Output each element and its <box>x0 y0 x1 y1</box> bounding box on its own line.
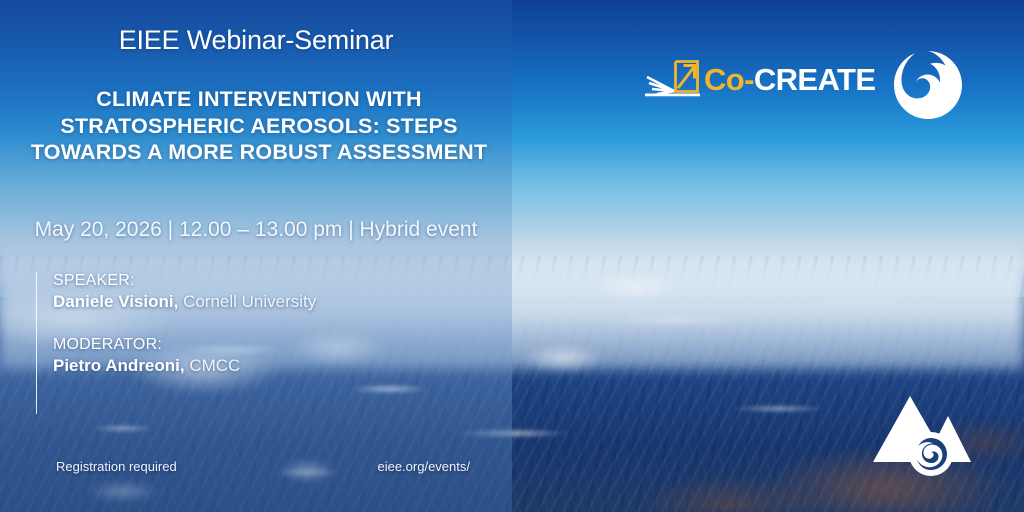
event-datetime: May 20, 2026 | 12.00 – 13.00 pm | Hybrid… <box>0 218 512 242</box>
cocreate-word-co: Co- <box>704 62 754 97</box>
participants-block: SPEAKER: Daniele Visioni, Cornell Univer… <box>36 272 316 414</box>
cocreate-logo: Co-CREATE <box>644 58 875 100</box>
moderator-role-label: MODERATOR: <box>53 336 316 354</box>
sunburst-arrow-icon <box>644 58 700 100</box>
moderator-name: Pietro Andreoni, <box>53 356 185 375</box>
poster-text-content: EIEE Webinar-Seminar Climate interventio… <box>0 0 512 512</box>
moderator-group: MODERATOR: Pietro Andreoni, CMCC <box>53 336 316 376</box>
speaker-name: Daniele Visioni, <box>53 292 178 311</box>
event-series-kicker: EIEE Webinar-Seminar <box>0 25 512 56</box>
webinar-announcement-poster: EIEE Webinar-Seminar Climate interventio… <box>0 0 1024 512</box>
cocreate-wordmark: Co-CREATE <box>704 64 875 95</box>
page-title: Climate intervention with stratospheric … <box>28 86 490 166</box>
mountains-spiral-icon <box>872 390 972 476</box>
moderator-line: Pietro Andreoni, CMCC <box>53 356 316 376</box>
cocreate-word-create: CREATE <box>754 62 876 97</box>
speaker-group: SPEAKER: Daniele Visioni, Cornell Univer… <box>53 272 316 312</box>
events-url[interactable]: eiee.org/events/ <box>377 459 470 474</box>
speaker-role-label: SPEAKER: <box>53 272 316 290</box>
speaker-line: Daniele Visioni, Cornell University <box>53 292 316 312</box>
registration-notice: Registration required <box>56 459 177 474</box>
speaker-affiliation: Cornell University <box>178 292 316 311</box>
moderator-affiliation: CMCC <box>185 356 241 375</box>
wave-spiral-icon <box>893 50 963 120</box>
